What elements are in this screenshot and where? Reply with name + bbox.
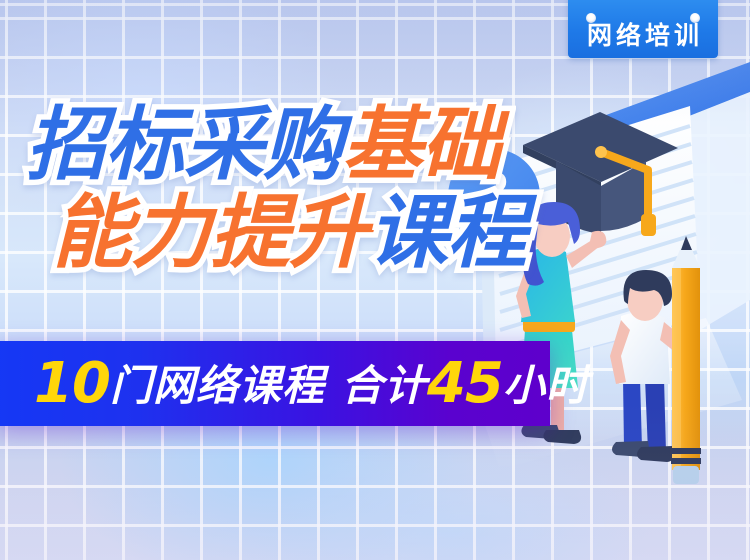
illustration: ? — [0, 0, 750, 560]
headline-seg-2: 基础 — [342, 98, 500, 191]
badge-pin-dot-right-icon — [690, 13, 700, 23]
course-summary-text: 10门网络课程合计45小时 — [0, 356, 589, 412]
headline-seg-1: 招标采购 — [26, 98, 342, 191]
giant-pencil-illustration — [671, 236, 701, 484]
headline-seg-4: 课程 — [368, 186, 526, 279]
total-hours: 45 — [427, 351, 503, 416]
headline-block: 招标采购基础 能力提升课程 — [26, 104, 526, 273]
headline-line-2: 能力提升课程 — [52, 192, 526, 274]
badge-label: 网络培训 — [583, 23, 703, 58]
course-count: 10 — [34, 351, 110, 416]
headline-seg-3: 能力提升 — [52, 186, 368, 279]
course-summary-bar: 10门网络课程合计45小时 — [0, 341, 550, 426]
badge-pin-dot-left-icon — [586, 13, 596, 23]
course-count-unit: 门网络课程 — [110, 361, 325, 410]
total-label: 合计 — [341, 361, 427, 410]
promo-banner: ? — [0, 0, 750, 560]
headline-line-1: 招标采购基础 — [26, 104, 526, 186]
total-hours-unit: 小时 — [503, 361, 589, 410]
training-badge: 网络培训 — [568, 0, 718, 58]
